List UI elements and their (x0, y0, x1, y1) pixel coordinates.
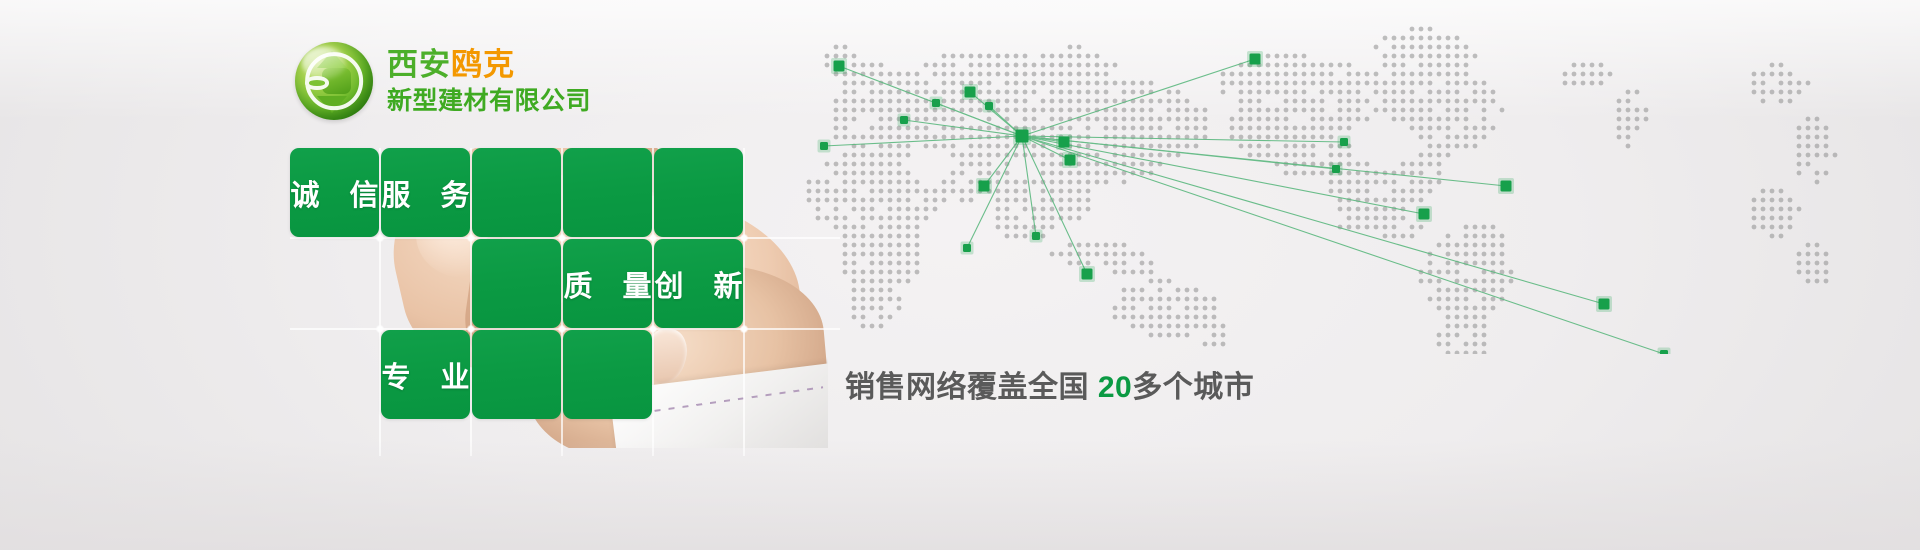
logo-text-block: 西安鸥克 新型建材有限公司 (387, 49, 591, 114)
dotted-world-map (724, 14, 1920, 354)
value-tile-blank-3[interactable] (563, 148, 652, 237)
value-tile-blank-5[interactable] (472, 239, 561, 328)
map-connection-lines (824, 59, 1664, 354)
value-tile-blank-2[interactable] (472, 148, 561, 237)
value-tile-8[interactable]: 专 业 (381, 330, 470, 419)
logo-city: 西安 (387, 47, 451, 82)
tile-label: 专 业 (370, 354, 480, 396)
sales-network-tagline: 销售网络覆盖全国 20多个城市 (845, 362, 1254, 406)
logo-line-2: 新型建材有限公司 (387, 89, 591, 114)
value-tile-6[interactable]: 质 量 (563, 239, 652, 328)
map-node-markers (818, 51, 1671, 354)
company-logo[interactable]: 西安鸥克 新型建材有限公司 (295, 42, 591, 120)
banner-stage: 西安鸥克 新型建材有限公司 诚 信服 务质 量创 新专 业 销售网络覆盖全国 2… (0, 0, 1920, 550)
globe-leaf-icon (295, 42, 373, 120)
tagline-number: 20 (1098, 371, 1132, 404)
tagline-suffix: 多个城市 (1132, 371, 1254, 404)
bottom-sheen (0, 440, 1920, 550)
value-tile-blank-10[interactable] (563, 330, 652, 419)
value-tile-0[interactable]: 诚 信 (290, 148, 379, 237)
logo-line-1: 西安鸥克 (387, 49, 591, 80)
tagline-prefix: 销售网络覆盖全国 (845, 371, 1098, 404)
map-dot-layer (807, 27, 1838, 354)
tile-label: 服 务 (370, 172, 480, 214)
world-map-svg (724, 14, 1920, 354)
value-tile-1[interactable]: 服 务 (381, 148, 470, 237)
value-tile-blank-9[interactable] (472, 330, 561, 419)
logo-brand: 鸥克 (451, 47, 515, 82)
